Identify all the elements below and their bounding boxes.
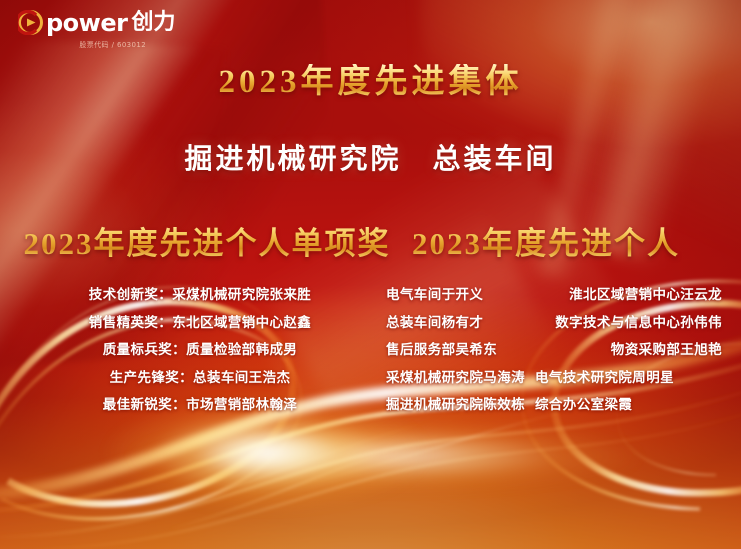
individual-award-list: 电气车间于开义 淮北区域营销中心汪云龙 总装车间杨有才 数字技术与信息中心孙伟伟… (386, 288, 722, 426)
list-item: 生产先锋奖：总装车间王浩杰 (30, 371, 370, 385)
list-item: 采煤机械研究院马海涛 电气技术研究院周明星 (386, 371, 722, 385)
winner-name: 掘进机械研究院陈效栋 (386, 398, 525, 412)
winner-name: 总装车间杨有才 (386, 316, 483, 330)
brand-logo[interactable]: power 创力 股票代码 / 603012 (18, 10, 175, 50)
list-item: 最佳新锐奖：市场营销部林翰泽 (30, 398, 370, 412)
c-power-circle-icon (18, 10, 43, 35)
section-heading-special: 2023年度先进个人单项奖 (22, 218, 392, 263)
special-award-list: 技术创新奖：采煤机械研究院张来胜 销售精英奖：东北区域营销中心赵鑫 质量标兵奖：… (30, 288, 370, 426)
logo-wordmark: power (46, 11, 127, 35)
collective-winners: 掘进机械研究院 总装车间 (0, 137, 741, 177)
page-title: 2023年度先进集体 (0, 64, 741, 100)
logo-wordmark-cn: 创力 (131, 12, 175, 34)
winner-name: 采煤机械研究院马海涛 (386, 371, 525, 385)
winner-name: 物资采购部王旭艳 (611, 343, 722, 357)
winner-name: 电气技术研究院周明星 (535, 371, 674, 385)
list-item: 售后服务部吴希东 物资采购部王旭艳 (386, 343, 722, 357)
list-item: 电气车间于开义 淮北区域营销中心汪云龙 (386, 288, 722, 302)
winner-name: 综合办公室梁霞 (535, 398, 632, 412)
winner-name: 电气车间于开义 (386, 288, 483, 302)
winner-name: 淮北区域营销中心汪云龙 (569, 288, 722, 302)
winner-name: 数字技术与信息中心孙伟伟 (555, 316, 722, 330)
list-item: 掘进机械研究院陈效栋 综合办公室梁霞 (386, 398, 722, 412)
winner-name: 售后服务部吴希东 (386, 343, 497, 357)
list-item: 质量标兵奖：质量检验部韩成男 (30, 343, 370, 357)
section-heading-individual: 2023年度先进个人 (396, 218, 696, 263)
stock-code-label: 股票代码 / 603012 (18, 40, 175, 50)
award-poster: power 创力 股票代码 / 603012 2023年度先进集体 掘进机械研究… (0, 0, 741, 549)
list-item: 总装车间杨有才 数字技术与信息中心孙伟伟 (386, 316, 722, 330)
list-item: 销售精英奖：东北区域营销中心赵鑫 (30, 316, 370, 330)
list-item: 技术创新奖：采煤机械研究院张来胜 (30, 288, 370, 302)
